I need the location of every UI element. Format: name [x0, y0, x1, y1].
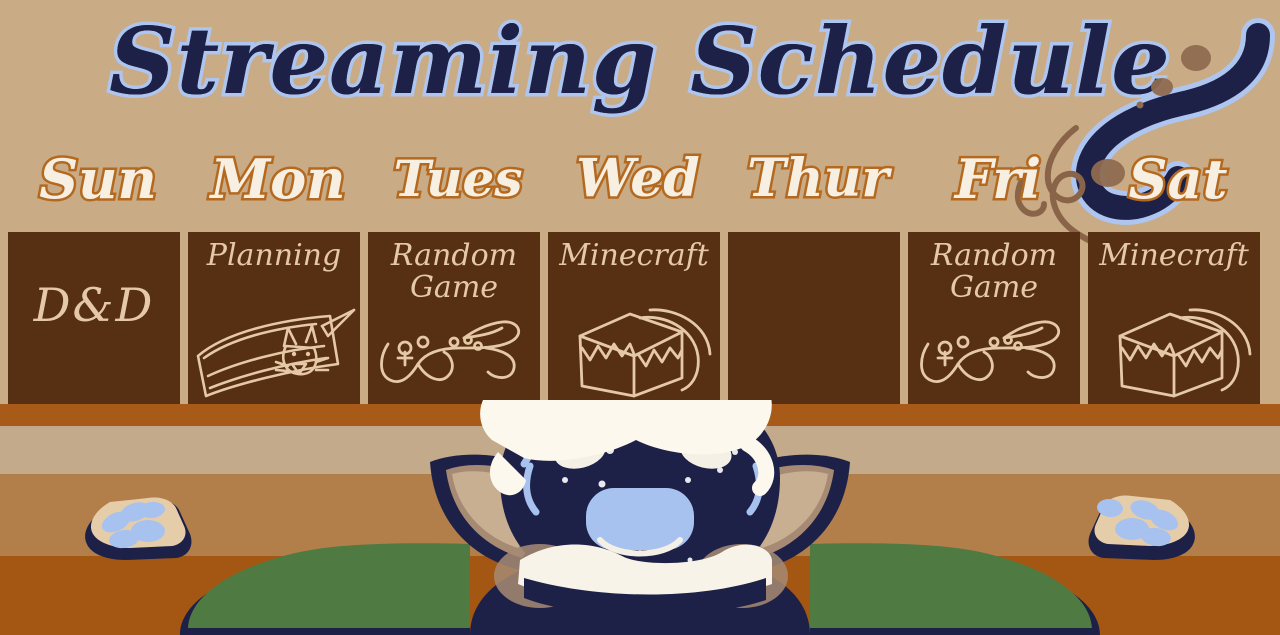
minecraft-block-sketch-icon — [548, 292, 720, 402]
schedule-card-mon[interactable]: Planning — [188, 232, 360, 404]
card-label-sat: Minecraft — [1088, 240, 1260, 272]
background-band-mid-brown — [0, 474, 1280, 556]
schedule-card-sat[interactable]: Minecraft — [1088, 232, 1260, 404]
card-label-sun: D&D — [8, 280, 180, 330]
minecraft-block-sketch-icon — [1088, 292, 1260, 402]
day-label-sat: Sat — [1088, 148, 1268, 210]
background-band-shelf — [0, 404, 1280, 426]
day-header-row: Sun Mon Tues Wed Thur Fri Sat — [8, 148, 1272, 210]
schedule-graphic: Streaming Schedule Sun Mon Tues Wed Thur… — [0, 0, 1280, 635]
background-band-low-orange — [0, 556, 1280, 635]
schedule-card-row: D&D Planning — [8, 232, 1272, 404]
day-label-thur: Thur — [728, 148, 908, 210]
notebook-sketch-icon — [188, 292, 360, 402]
controller-sketch-icon — [908, 292, 1080, 402]
card-label-wed: Minecraft — [548, 240, 720, 272]
background-band-tan — [0, 426, 1280, 474]
schedule-card-thur[interactable] — [728, 232, 900, 404]
day-label-tues: Tues — [368, 148, 548, 210]
controller-sketch-icon — [368, 292, 540, 402]
schedule-card-tues[interactable]: Random Game — [368, 232, 540, 404]
day-label-fri: Fri — [908, 148, 1088, 210]
day-label-sun: Sun — [8, 148, 188, 210]
schedule-card-wed[interactable]: Minecraft — [548, 232, 720, 404]
day-label-wed: Wed — [548, 148, 728, 210]
page-title: Streaming Schedule — [0, 0, 1280, 126]
day-label-mon: Mon — [188, 148, 368, 210]
schedule-card-fri[interactable]: Random Game — [908, 232, 1080, 404]
schedule-card-sun[interactable]: D&D — [8, 232, 180, 404]
card-label-mon: Planning — [188, 240, 360, 272]
